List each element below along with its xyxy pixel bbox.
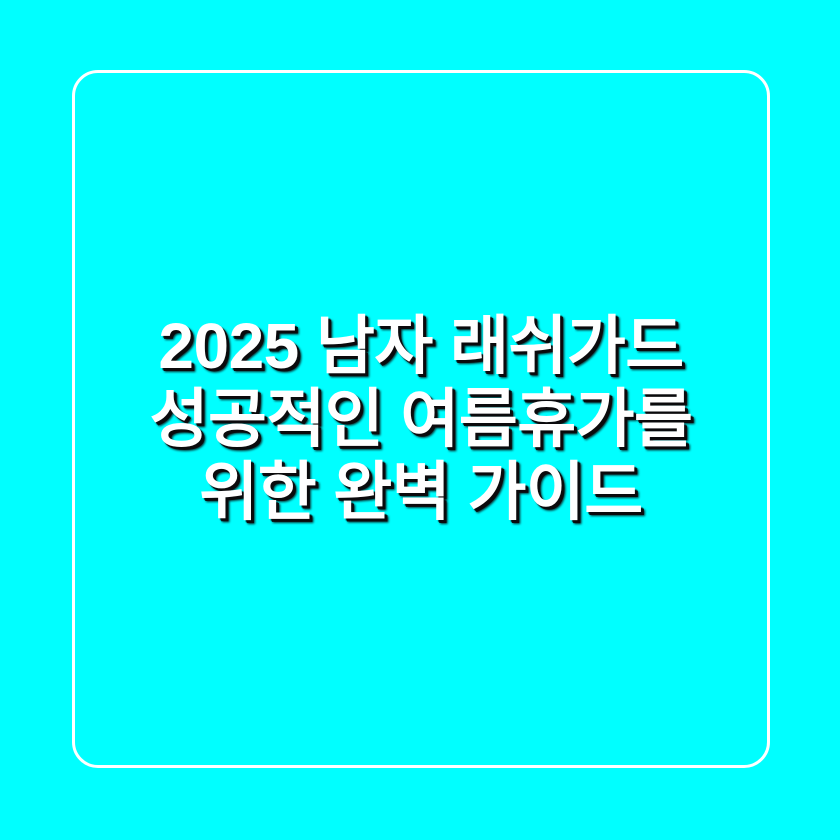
poster-canvas: 2025 남자 래쉬가드 성공적인 여름휴가를 위한 완벽 가이드 bbox=[0, 0, 840, 840]
headline-line-2: 성공적인 여름휴가를 bbox=[96, 383, 746, 456]
headline-line-1: 2025 남자 래쉬가드 bbox=[96, 310, 746, 383]
headline-block: 2025 남자 래쉬가드 성공적인 여름휴가를 위한 완벽 가이드 bbox=[72, 70, 770, 768]
headline-line-3: 위한 완벽 가이드 bbox=[96, 456, 746, 529]
